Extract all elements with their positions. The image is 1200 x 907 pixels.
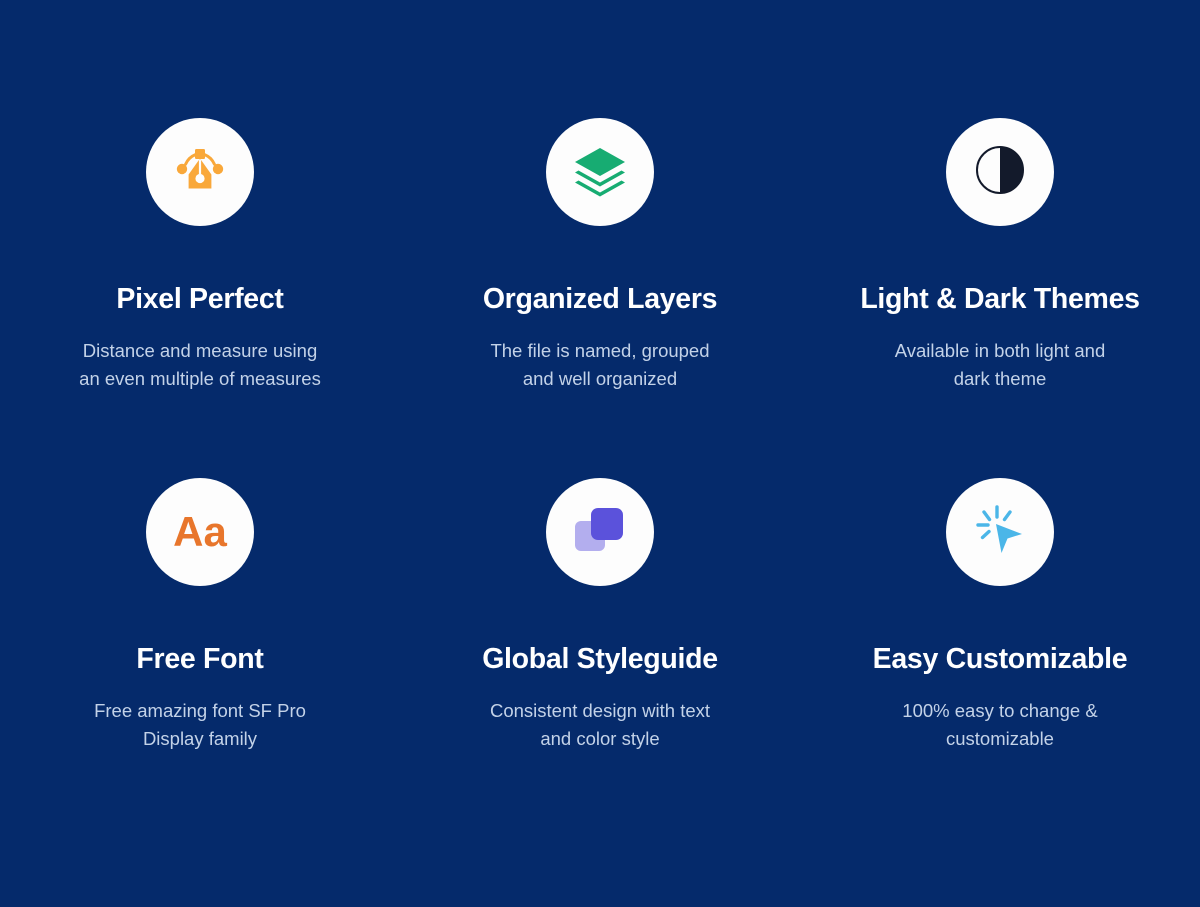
feature-description: The file is named, grouped and well orga… bbox=[490, 337, 709, 393]
icon-badge bbox=[546, 478, 654, 586]
layers-icon bbox=[572, 142, 628, 203]
feature-description: Available in both light and dark theme bbox=[895, 337, 1106, 393]
feature-description: Free amazing font SF Pro Display family bbox=[94, 697, 306, 753]
feature-title: Light & Dark Themes bbox=[860, 284, 1139, 315]
icon-badge bbox=[946, 478, 1054, 586]
feature-description: 100% easy to change & customizable bbox=[902, 697, 1097, 753]
feature-title: Easy Customizable bbox=[873, 644, 1128, 675]
feature-title: Free Font bbox=[136, 644, 263, 675]
click-cursor-icon bbox=[973, 503, 1027, 562]
feature-description: Distance and measure using an even multi… bbox=[79, 337, 321, 393]
feature-card-easy-customizable: Easy Customizable 100% easy to change & … bbox=[800, 478, 1200, 838]
pen-tool-icon bbox=[171, 141, 229, 204]
overlapping-squares-icon bbox=[572, 502, 628, 563]
icon-badge bbox=[146, 118, 254, 226]
feature-card-light-dark-themes: Light & Dark Themes Available in both li… bbox=[800, 118, 1200, 478]
feature-card-global-styleguide: Global Styleguide Consistent design with… bbox=[400, 478, 800, 838]
feature-card-free-font: Aa Free Font Free amazing font SF Pro Di… bbox=[0, 478, 400, 838]
feature-title: Global Styleguide bbox=[482, 644, 718, 675]
icon-badge bbox=[546, 118, 654, 226]
feature-title: Pixel Perfect bbox=[116, 284, 283, 315]
icon-badge bbox=[946, 118, 1054, 226]
features-grid: Pixel Perfect Distance and measure using… bbox=[0, 0, 1200, 907]
typography-aa-icon: Aa bbox=[173, 511, 227, 553]
contrast-icon bbox=[974, 144, 1026, 201]
feature-description: Consistent design with text and color st… bbox=[490, 697, 710, 753]
feature-title: Organized Layers bbox=[483, 284, 717, 315]
feature-card-organized-layers: Organized Layers The file is named, grou… bbox=[400, 118, 800, 478]
icon-badge: Aa bbox=[146, 478, 254, 586]
feature-card-pixel-perfect: Pixel Perfect Distance and measure using… bbox=[0, 118, 400, 478]
